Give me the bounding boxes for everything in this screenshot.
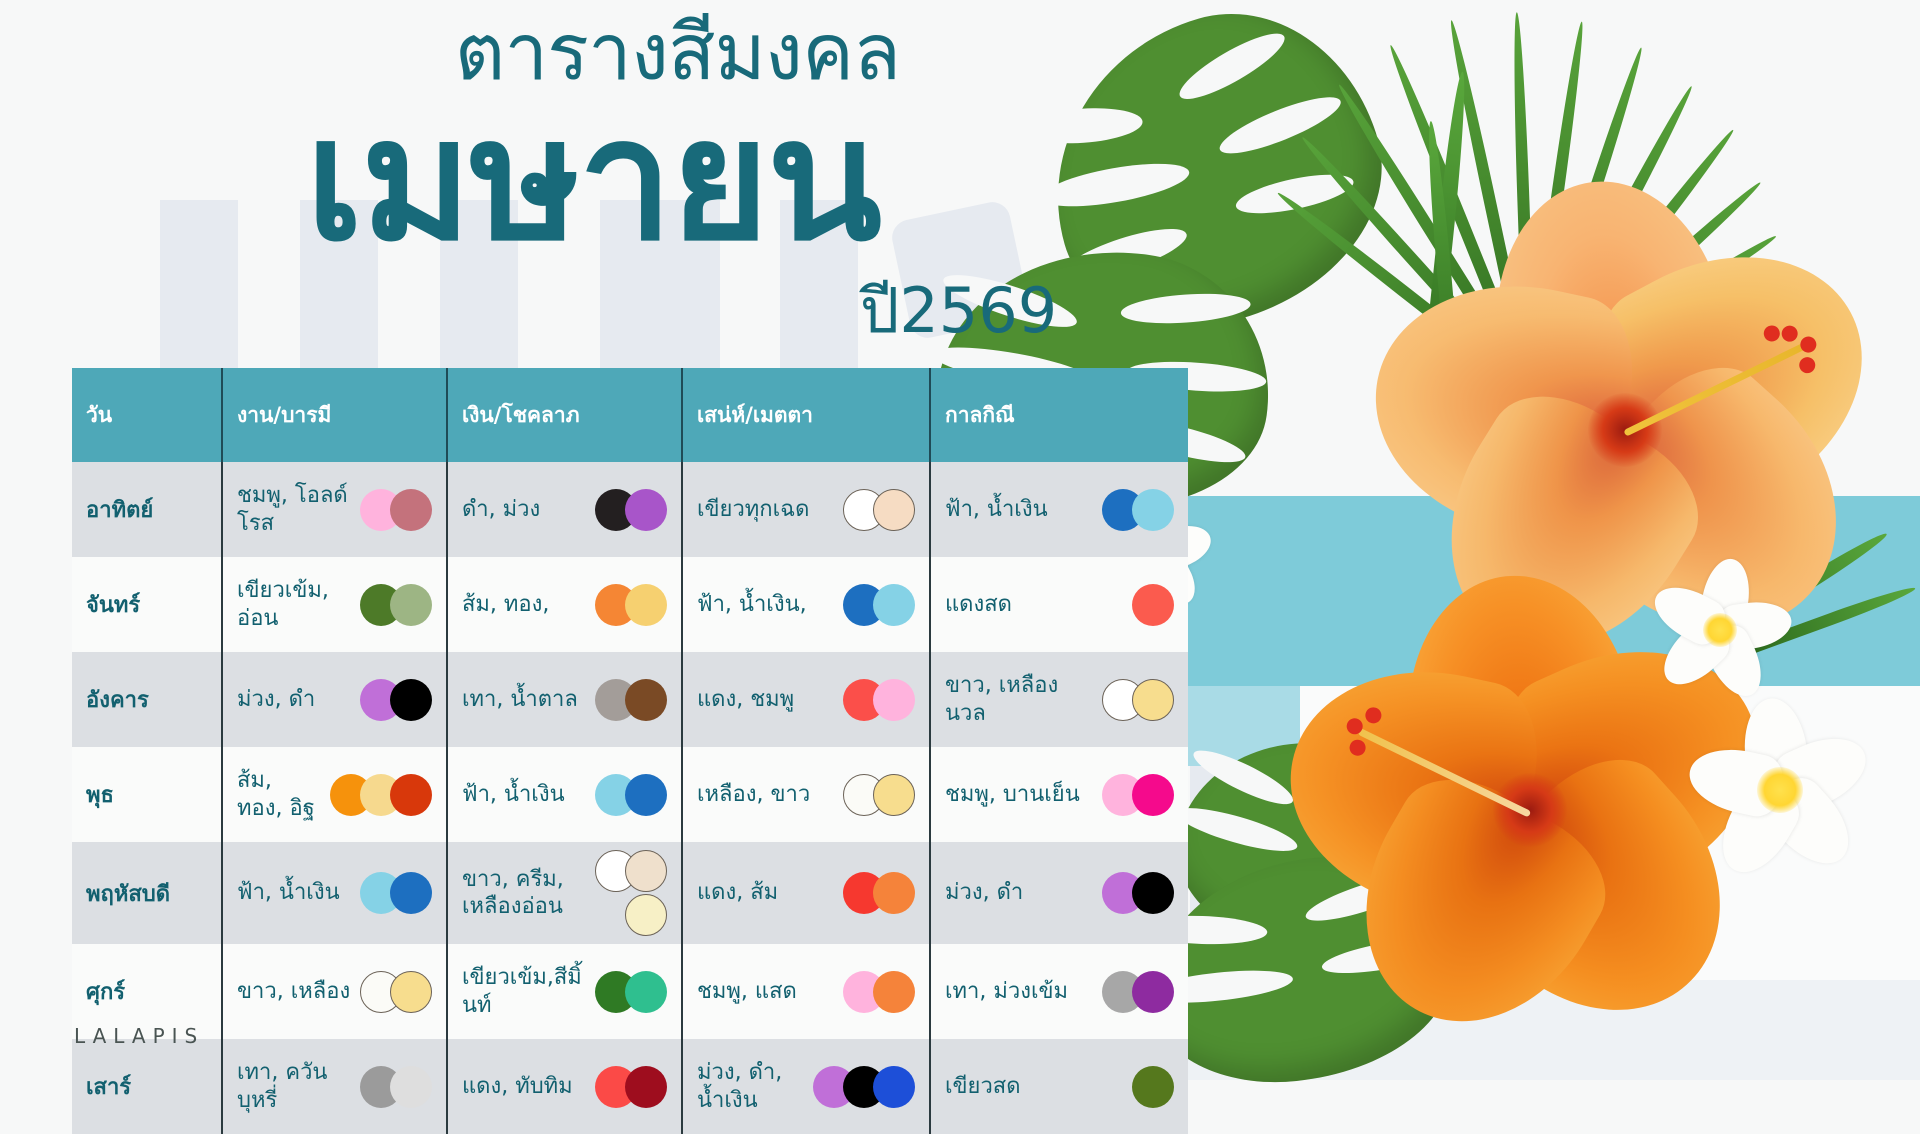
aqua-band (1170, 496, 1920, 686)
color-swatch (625, 850, 667, 892)
table-row: อาทิตย์ชมพู, โอลด์โรสดำ, ม่วงเขียวทุกเฉด… (72, 462, 1188, 557)
color-name-text: เทา, ควันบุหรี่ (237, 1059, 354, 1114)
color-name-text: ขาว, ครีม, เหลืองอ่อน (462, 866, 589, 921)
color-swatch (1132, 774, 1174, 816)
column-header-day: วัน (72, 368, 222, 462)
page-header: ตารางสีมงคล เมษายน ปี2569 (0, 0, 1180, 360)
color-swatch-group (595, 970, 667, 1014)
cell-charm: ชมพู, แสด (682, 944, 930, 1039)
cell-charm: เหลือง, ขาว (682, 747, 930, 842)
cell-bad: เขียวสด (930, 1039, 1188, 1134)
color-name-text: ขาว, เหลืองนวล (945, 672, 1096, 727)
color-swatch-group (843, 678, 915, 722)
color-name-text: ชมพู, บานเย็น (945, 781, 1096, 808)
color-swatch-group (360, 871, 432, 915)
color-name-text: ส้ม, ทอง, อิฐ (237, 767, 324, 822)
page-subtitle: ตารางสีมงคล (0, 14, 900, 92)
color-swatch-group (360, 678, 432, 722)
color-swatch-group (813, 1065, 915, 1109)
cell-money: เขียวเข้ม,สีมิ้นท์ (447, 944, 682, 1039)
cell-work: เทา, ควันบุหรี่ (222, 1039, 447, 1134)
cell-work: ฟ้า, น้ำเงิน (222, 842, 447, 944)
color-swatch-group (843, 583, 915, 627)
cell-money: เทา, น้ำตาล (447, 652, 682, 747)
color-name-text: ฟ้า, น้ำเงิน (945, 496, 1096, 523)
table-header-row: วัน งาน/บารมี เงิน/โชคลาภ เสน่ห์/เมตตา ก… (72, 368, 1188, 462)
color-swatch-group (843, 871, 915, 915)
table-body: อาทิตย์ชมพู, โอลด์โรสดำ, ม่วงเขียวทุกเฉด… (72, 462, 1188, 1134)
brand-logo: LALAPIS (74, 1024, 204, 1048)
cell-charm: ม่วง, ดำ, น้ำเงิน (682, 1039, 930, 1134)
color-name-text: ฟ้า, น้ำเงิน (237, 879, 354, 906)
color-swatch-group (1102, 970, 1174, 1014)
color-name-text: ชมพู, โอลด์โรส (237, 482, 354, 537)
cell-work: ส้ม, ทอง, อิฐ (222, 747, 447, 842)
color-name-text: ขาว, เหลือง (237, 978, 354, 1005)
cell-money: ดำ, ม่วง (447, 462, 682, 557)
table-row: ศุกร์ขาว, เหลืองเขียวเข้ม,สีมิ้นท์ชมพู, … (72, 944, 1188, 1039)
color-swatch (1132, 679, 1174, 721)
color-swatch-group (843, 970, 915, 1014)
lucky-color-table-wrap: วัน งาน/บารมี เงิน/โชคลาภ เสน่ห์/เมตตา ก… (72, 368, 1188, 1134)
color-name-text: แดงสด (945, 591, 1126, 618)
color-swatch-group (595, 850, 667, 936)
color-name-text: ดำ, ม่วง (462, 496, 589, 523)
color-swatch (873, 971, 915, 1013)
cell-bad: แดงสด (930, 557, 1188, 652)
cell-bad: ชมพู, บานเย็น (930, 747, 1188, 842)
color-swatch-group (595, 488, 667, 532)
color-swatch (625, 971, 667, 1013)
color-swatch (1132, 584, 1174, 626)
table-row: พฤหัสบดีฟ้า, น้ำเงินขาว, ครีม, เหลืองอ่อ… (72, 842, 1188, 944)
color-swatch-group (595, 583, 667, 627)
cell-money: แดง, ทับทิม (447, 1039, 682, 1134)
color-name-text: ชมพู, แสด (697, 978, 837, 1005)
color-swatch-group (360, 1065, 432, 1109)
cell-work: ขาว, เหลือง (222, 944, 447, 1039)
color-swatch-group (1102, 488, 1174, 532)
cell-work: ม่วง, ดำ (222, 652, 447, 747)
color-swatch (873, 584, 915, 626)
color-swatch-group (843, 488, 915, 532)
color-name-text: เขียวเข้ม, อ่อน (237, 577, 354, 632)
color-swatch (873, 1066, 915, 1108)
cell-day: พฤหัสบดี (72, 842, 222, 944)
color-swatch-group (595, 1065, 667, 1109)
cell-bad: ฟ้า, น้ำเงิน (930, 462, 1188, 557)
color-swatch (390, 679, 432, 721)
cell-bad: ม่วง, ดำ (930, 842, 1188, 944)
color-swatch-group (1102, 871, 1174, 915)
table-row: พุธส้ม, ทอง, อิฐฟ้า, น้ำเงินเหลือง, ขาวช… (72, 747, 1188, 842)
color-swatch-group (595, 773, 667, 817)
color-swatch (390, 774, 432, 816)
color-swatch (625, 584, 667, 626)
color-name-text: ม่วง, ดำ, น้ำเงิน (697, 1059, 807, 1114)
color-swatch-group (843, 773, 915, 817)
color-swatch-group (1132, 1065, 1174, 1109)
column-header-work: งาน/บารมี (222, 368, 447, 462)
column-header-bad: กาลกิณี (930, 368, 1188, 462)
white-sheet (1300, 686, 1920, 986)
color-name-text: ม่วง, ดำ (945, 879, 1096, 906)
color-swatch (873, 774, 915, 816)
color-swatch (625, 894, 667, 936)
cell-day: พุธ (72, 747, 222, 842)
color-swatch-group (1132, 583, 1174, 627)
color-swatch (873, 679, 915, 721)
color-swatch (390, 971, 432, 1013)
color-swatch (1132, 1066, 1174, 1108)
color-swatch (625, 679, 667, 721)
color-swatch-group (360, 583, 432, 627)
cell-day: อาทิตย์ (72, 462, 222, 557)
color-swatch (390, 489, 432, 531)
cell-day: อังคาร (72, 652, 222, 747)
cell-charm: แดง, ชมพู (682, 652, 930, 747)
color-swatch (1132, 872, 1174, 914)
page-year: ปี2569 (860, 280, 1057, 342)
color-swatch (390, 584, 432, 626)
color-swatch (390, 1066, 432, 1108)
cell-money: ขาว, ครีม, เหลืองอ่อน (447, 842, 682, 944)
cell-day: เสาร์ (72, 1039, 222, 1134)
lucky-color-table: วัน งาน/บารมี เงิน/โชคลาภ เสน่ห์/เมตตา ก… (72, 368, 1188, 1134)
color-name-text: เขียวสด (945, 1073, 1126, 1100)
color-name-text: ส้ม, ทอง, (462, 591, 589, 618)
color-swatch (625, 489, 667, 531)
table-row: อังคารม่วง, ดำเทา, น้ำตาลแดง, ชมพูขาว, เ… (72, 652, 1188, 747)
color-swatch-group (360, 970, 432, 1014)
color-name-text: ฟ้า, น้ำเงิน, (697, 591, 837, 618)
cell-charm: ฟ้า, น้ำเงิน, (682, 557, 930, 652)
cell-money: ส้ม, ทอง, (447, 557, 682, 652)
table-row: จันทร์เขียวเข้ม, อ่อนส้ม, ทอง,ฟ้า, น้ำเง… (72, 557, 1188, 652)
color-swatch-group (595, 678, 667, 722)
cell-charm: แดง, ส้ม (682, 842, 930, 944)
color-swatch (873, 872, 915, 914)
color-name-text: เทา, น้ำตาล (462, 686, 589, 713)
table-row: เสาร์เทา, ควันบุหรี่แดง, ทับทิมม่วง, ดำ,… (72, 1039, 1188, 1134)
column-header-charm: เสน่ห์/เมตตา (682, 368, 930, 462)
page-title: เมษายน (0, 96, 880, 264)
color-swatch-group (330, 773, 432, 817)
color-name-text: แดง, ทับทิม (462, 1073, 589, 1100)
color-name-text: ม่วง, ดำ (237, 686, 354, 713)
cell-work: ชมพู, โอลด์โรส (222, 462, 447, 557)
color-swatch-group (1102, 773, 1174, 817)
color-swatch (625, 1066, 667, 1108)
cell-bad: เทา, ม่วงเข้ม (930, 944, 1188, 1039)
white-sheet (1170, 980, 1920, 1080)
color-swatch (873, 489, 915, 531)
color-swatch (390, 872, 432, 914)
cell-work: เขียวเข้ม, อ่อน (222, 557, 447, 652)
cell-day: จันทร์ (72, 557, 222, 652)
color-name-text: แดง, ชมพู (697, 686, 837, 713)
cell-money: ฟ้า, น้ำเงิน (447, 747, 682, 842)
color-swatch (1132, 971, 1174, 1013)
color-swatch-group (360, 488, 432, 532)
color-swatch (1132, 489, 1174, 531)
column-header-money: เงิน/โชคลาภ (447, 368, 682, 462)
cell-bad: ขาว, เหลืองนวล (930, 652, 1188, 747)
color-name-text: เทา, ม่วงเข้ม (945, 978, 1096, 1005)
color-swatch-group (1102, 678, 1174, 722)
color-name-text: เขียวเข้ม,สีมิ้นท์ (462, 964, 589, 1019)
color-name-text: ฟ้า, น้ำเงิน (462, 781, 589, 808)
color-swatch (625, 774, 667, 816)
cell-charm: เขียวทุกเฉด (682, 462, 930, 557)
color-name-text: เขียวทุกเฉด (697, 496, 837, 523)
color-name-text: แดง, ส้ม (697, 879, 837, 906)
color-name-text: เหลือง, ขาว (697, 781, 837, 808)
